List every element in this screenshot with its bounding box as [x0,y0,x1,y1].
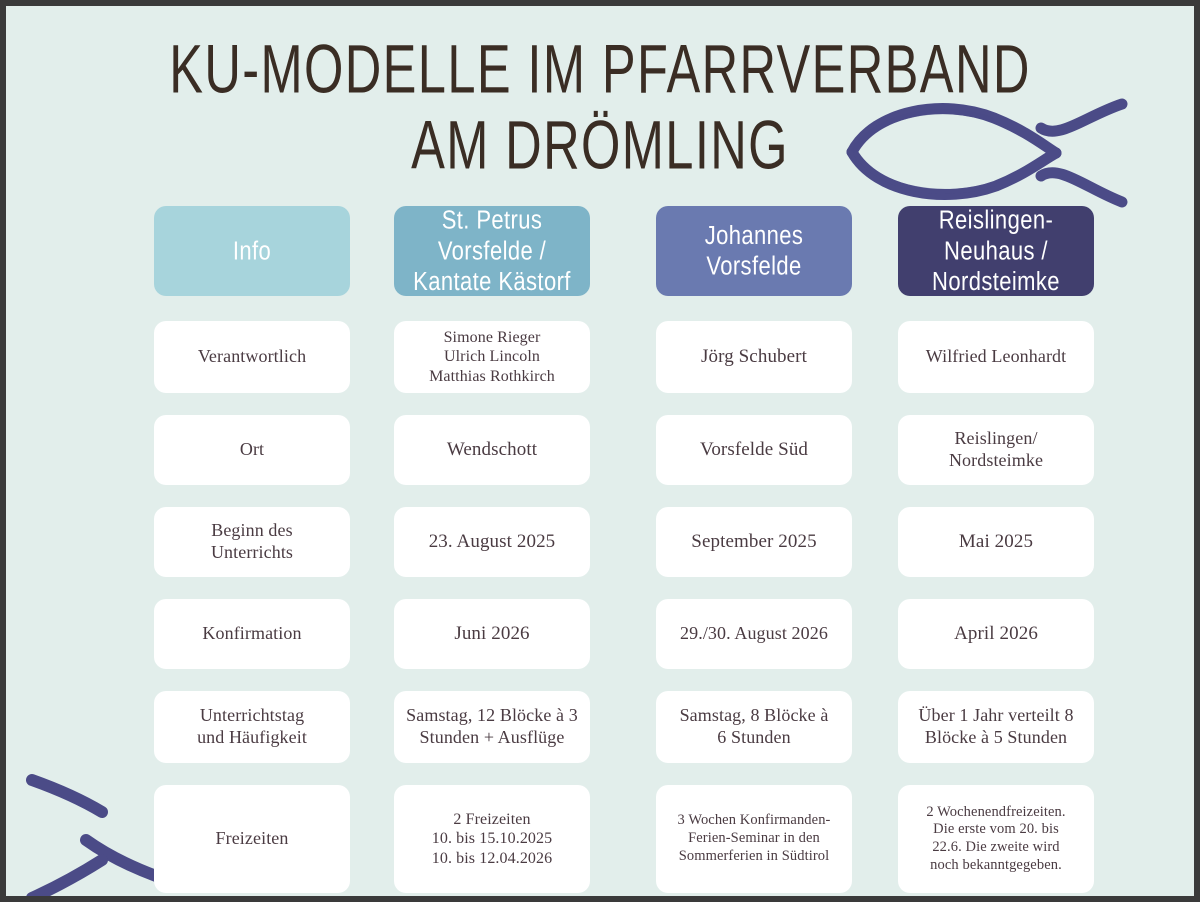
table-cell: Juni 2026 [394,599,590,669]
spacer [656,577,852,599]
title-line-2: AM DRÖMLING [54,106,1147,184]
spacer [898,669,1094,691]
spacer [898,393,1094,415]
spacer [394,393,590,415]
spacer [898,763,1094,785]
table-cell: Wilfried Leonhardt [898,321,1094,393]
table-column-petrus: St. PetrusVorsfelde /Kantate Kästorf Sim… [394,206,590,893]
table-cell: 29./30. August 2026 [656,599,852,669]
cell-text: September 2025 [691,530,816,553]
column-header-label: JohannesVorsfelde [705,220,804,281]
cell-text: Vorsfelde Süd [700,438,808,461]
table-column-reislingen: Reislingen-Neuhaus /Nordsteimke Wilfried… [898,206,1094,893]
spacer [154,296,350,321]
cell-text: Beginn desUnterrichts [211,520,293,564]
cell-text: Konfirmation [202,623,301,645]
cell-text: Samstag, 8 Blöcke à6 Stunden [680,705,829,749]
cell-text: Simone RiegerUlrich LincolnMatthias Roth… [429,328,555,387]
spacer [656,296,852,321]
spacer [394,296,590,321]
table-cell: Konfirmation [154,599,350,669]
cell-text: 2 Freizeiten10. bis 15.10.202510. bis 12… [432,810,552,869]
column-header-johannes: JohannesVorsfelde [656,206,852,296]
cell-text: 23. August 2025 [429,530,556,553]
spacer [394,485,590,507]
table-cell: Über 1 Jahr verteilt 8Blöcke à 5 Stunden [898,691,1094,763]
table-cell: 2 Freizeiten10. bis 15.10.202510. bis 12… [394,785,590,893]
poster-canvas: KU-MODELLE IM PFARRVERBAND AM DRÖMLING [6,6,1194,896]
cell-text: Juni 2026 [454,622,529,645]
table-cell: 23. August 2025 [394,507,590,577]
table-cell: Vorsfelde Süd [656,415,852,485]
table-cell: Jörg Schubert [656,321,852,393]
table-cell: Ort [154,415,350,485]
spacer [394,669,590,691]
column-header-petrus: St. PetrusVorsfelde /Kantate Kästorf [394,206,590,296]
spacer [154,485,350,507]
spacer [154,669,350,691]
cell-text: Ort [240,439,264,461]
cell-text: Freizeiten [216,828,289,850]
spacer [154,577,350,599]
table-cell: Verantwortlich [154,321,350,393]
table-cell: Mai 2025 [898,507,1094,577]
cell-text: Über 1 Jahr verteilt 8Blöcke à 5 Stunden [918,705,1073,749]
table-cell: April 2026 [898,599,1094,669]
cell-text: Reislingen/Nordsteimke [949,428,1043,472]
spacer [656,485,852,507]
column-header-label: St. PetrusVorsfelde /Kantate Kästorf [413,205,571,297]
cell-text: Verantwortlich [198,346,306,368]
table-cell: Reislingen/Nordsteimke [898,415,1094,485]
cell-text: 3 Wochen Konfirmanden-Ferien-Seminar in … [678,812,831,865]
table-cell: Simone RiegerUlrich LincolnMatthias Roth… [394,321,590,393]
table-cell: September 2025 [656,507,852,577]
column-header-label: Info [233,236,271,267]
column-header-label: Reislingen-Neuhaus /Nordsteimke [932,205,1060,297]
cell-text: Wendschott [447,438,537,461]
spacer [394,577,590,599]
spacer [656,763,852,785]
spacer [656,669,852,691]
spacer [898,485,1094,507]
table-cell: Samstag, 12 Blöcke à 3Stunden + Ausflüge [394,691,590,763]
table-cell: Freizeiten [154,785,350,893]
spacer [898,577,1094,599]
table-cell: 2 Wochenendfreizeiten.Die erste vom 20. … [898,785,1094,893]
cell-text: Mai 2025 [959,530,1033,553]
title-line-1: KU-MODELLE IM PFARRVERBAND [54,30,1147,108]
cell-text: 2 Wochenendfreizeiten.Die erste vom 20. … [926,804,1065,875]
cell-text: Jörg Schubert [701,345,807,368]
spacer [656,393,852,415]
table-cell: Samstag, 8 Blöcke à6 Stunden [656,691,852,763]
table-cell: Unterrichtstagund Häufigkeit [154,691,350,763]
cell-text: Wilfried Leonhardt [926,346,1067,368]
table-column-johannes: JohannesVorsfelde Jörg Schubert Vorsfeld… [656,206,852,893]
cell-text: April 2026 [954,622,1038,645]
spacer [154,763,350,785]
column-header-reislingen: Reislingen-Neuhaus /Nordsteimke [898,206,1094,296]
page-title: KU-MODELLE IM PFARRVERBAND AM DRÖMLING [6,30,1194,168]
table-cell: Wendschott [394,415,590,485]
column-header-info: Info [154,206,350,296]
cell-text: Samstag, 12 Blöcke à 3Stunden + Ausflüge [406,705,578,749]
table-cell: 3 Wochen Konfirmanden-Ferien-Seminar in … [656,785,852,893]
cell-text: 29./30. August 2026 [680,623,828,645]
spacer [394,763,590,785]
spacer [154,393,350,415]
table-column-info: Info Verantwortlich Ort Beginn desUnterr… [154,206,350,893]
table-cell: Beginn desUnterrichts [154,507,350,577]
spacer [898,296,1094,321]
cell-text: Unterrichtstagund Häufigkeit [197,705,307,749]
